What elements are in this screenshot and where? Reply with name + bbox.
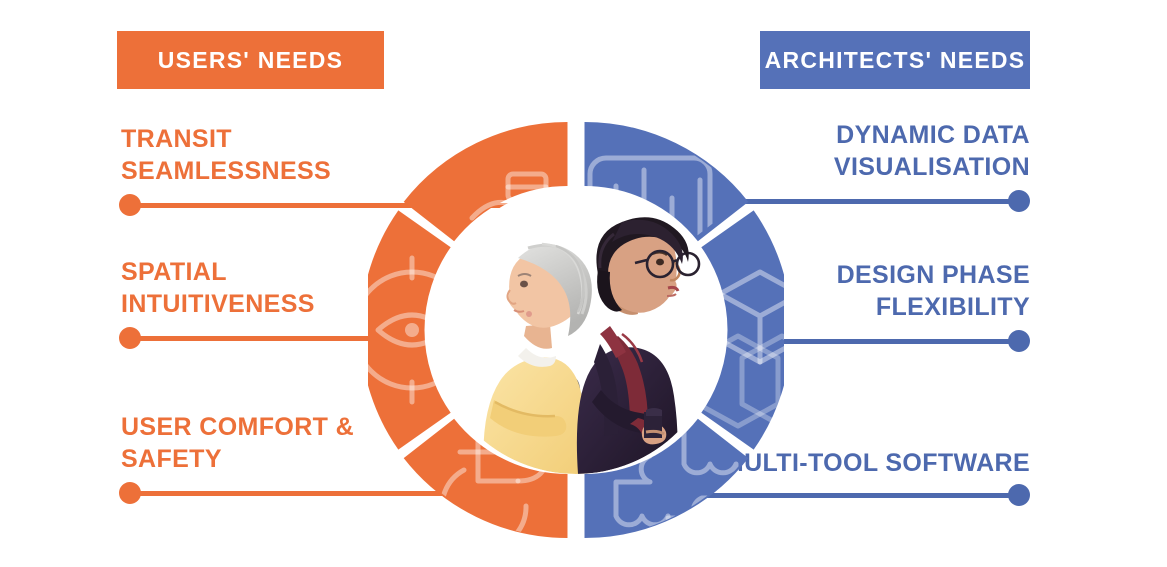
infographic-canvas: USERS' NEEDS ARCHITECTS' NEEDS TRANSIT S… [0,0,1167,567]
connector-spatial-intuitiveness [119,327,373,349]
header-banner-users-label: USERS' NEEDS [158,47,344,74]
center-illustration [432,186,720,474]
connector-line-spatial-intuitiveness [130,336,373,341]
connector-design-phase-flexibility [782,330,1030,352]
header-banner-architects-label: ARCHITECTS' NEEDS [765,47,1026,74]
connector-line-design-phase-flexibility [782,339,1019,344]
header-banner-architects-needs: ARCHITECTS' NEEDS [760,31,1030,89]
header-banner-users-needs: USERS' NEEDS [117,31,384,89]
